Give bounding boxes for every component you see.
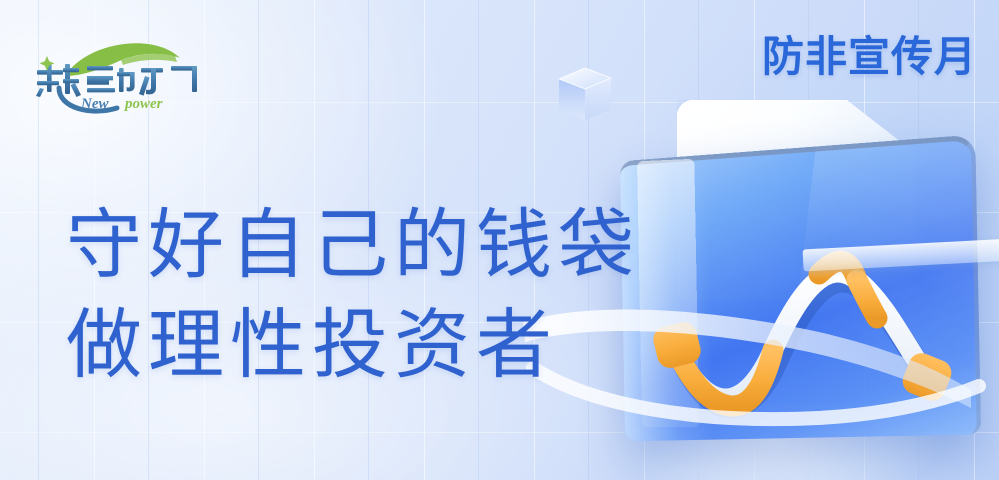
ribbon-strip-top xyxy=(803,239,999,272)
document-shadow xyxy=(685,104,917,296)
logo-star-icon xyxy=(40,56,55,71)
background-glow-right xyxy=(629,40,999,480)
brand-logo: New power xyxy=(25,36,225,116)
folder-rim xyxy=(620,135,981,442)
glass-cube-icon xyxy=(553,62,617,132)
white-document xyxy=(677,100,913,300)
folder-body xyxy=(620,135,981,442)
document-sheen xyxy=(677,100,913,300)
blue-folder xyxy=(617,148,977,438)
chart-node-end xyxy=(899,349,956,404)
folder-gloss xyxy=(637,158,699,426)
logo-tagline-new: New xyxy=(80,96,109,112)
headline-line-2: 做理性投资者 xyxy=(66,296,640,396)
logo-char-li xyxy=(139,66,197,96)
headline: 守好自己的钱袋 做理性投资者 xyxy=(66,196,640,396)
logo-tagline-power: power xyxy=(123,96,163,112)
promo-banner: New power 防非宣传月 xyxy=(0,0,999,480)
campaign-title: 防非宣传月 xyxy=(762,36,977,78)
folder-base-glow xyxy=(609,404,939,480)
logo-char-dong xyxy=(87,66,135,92)
chart-node-start xyxy=(651,319,704,370)
chart-curve xyxy=(641,200,971,430)
headline-line-1: 守好自己的钱袋 xyxy=(66,196,640,296)
